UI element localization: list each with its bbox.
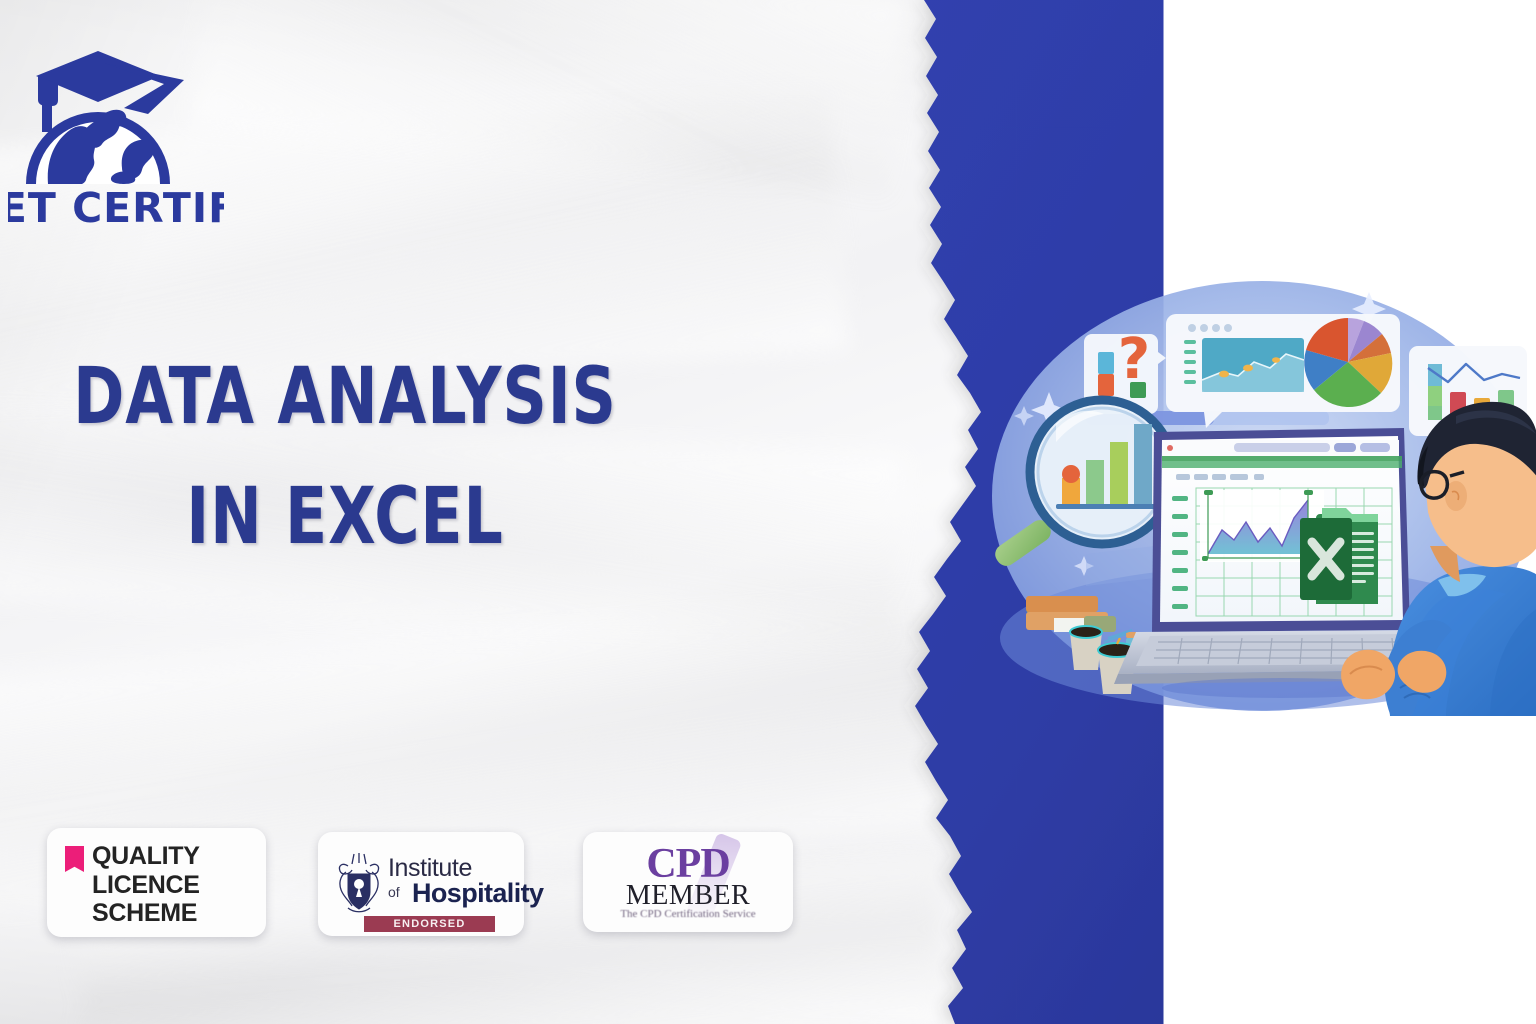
ioh-ribbon-label: ENDORSED: [364, 916, 495, 932]
qls-line-1: QUALITY: [92, 842, 200, 871]
cup-left: [1070, 626, 1102, 670]
qls-line-3: SCHEME: [92, 899, 200, 928]
bookmark-ribbon-icon: [65, 846, 84, 872]
bar-orange: [1098, 374, 1114, 396]
ioh-connector: of: [388, 884, 400, 900]
ioh-line-2: Hospitality: [412, 878, 543, 909]
question-mark-icon: ?: [1118, 327, 1150, 392]
accreditation-badges: QUALITY LICENCE SCHEME: [0, 828, 830, 948]
hero-illustration: ?: [986, 246, 1536, 716]
banner-canvas: GET CERTIFY DATA ANALYSIS IN EXCEL QUALI…: [0, 0, 1536, 1024]
heraldic-crest-icon: [332, 850, 386, 916]
title-line-1: DATA ANALYSIS: [41, 358, 648, 436]
cpd-line-3: The CPD Certification Service: [583, 908, 793, 922]
excel-file-icon: [1300, 508, 1378, 604]
ioh-endorsed-ribbon: ENDORSED: [364, 916, 495, 932]
badge-quality-licence-scheme[interactable]: QUALITY LICENCE SCHEME: [47, 828, 266, 937]
title-line-2: IN EXCEL: [41, 478, 648, 556]
bar-blue: [1098, 352, 1114, 374]
badge-institute-of-hospitality[interactable]: Institute of Hospitality ENDORSED: [318, 832, 524, 936]
pie-chart: [1304, 318, 1392, 407]
logo-wordmark: GET CERTIFY: [8, 184, 224, 232]
card-dashboard: [1166, 314, 1400, 428]
qls-line-2: LICENCE: [92, 871, 200, 900]
badge-cpd-member[interactable]: CPD MEMBER The CPD Certification Service: [583, 832, 793, 932]
page-title: DATA ANALYSIS IN EXCEL: [0, 358, 690, 556]
brand-logo[interactable]: GET CERTIFY: [8, 18, 224, 234]
get-certify-logo-mark: GET CERTIFY: [8, 18, 224, 234]
